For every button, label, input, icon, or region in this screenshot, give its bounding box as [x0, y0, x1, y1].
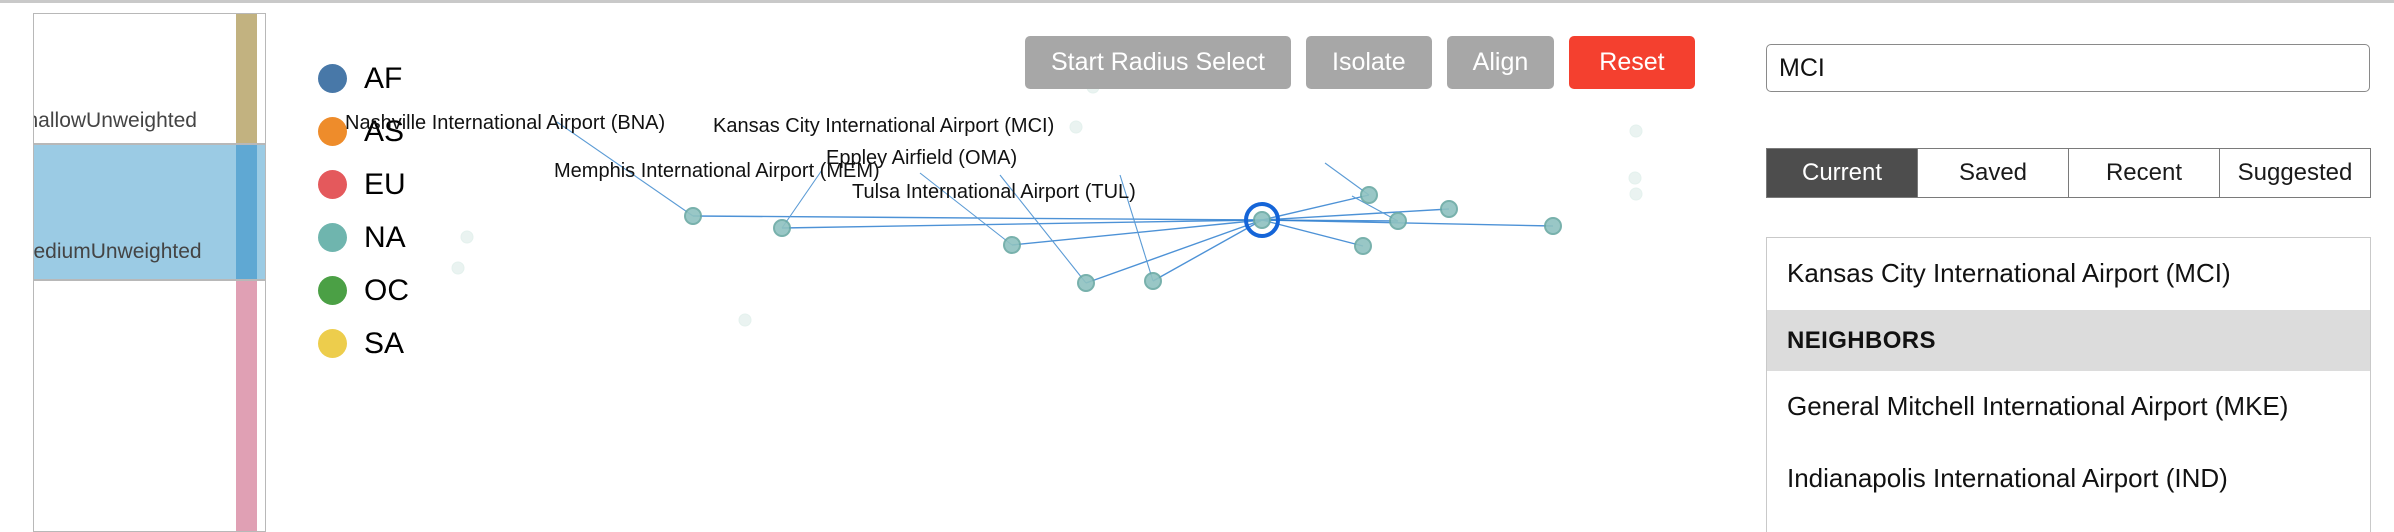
graph-node[interactable]: [1629, 172, 1641, 184]
list-item[interactable]: Kansas City International Airport (MCI): [1767, 238, 2370, 310]
reset-button[interactable]: Reset: [1569, 36, 1694, 89]
continent-legend: AF AS EU NA OC SA: [318, 52, 438, 370]
legend-label-oc: OC: [364, 276, 409, 306]
graph-node[interactable]: [1145, 273, 1161, 289]
legend-label-sa: SA: [364, 329, 404, 359]
graph-node[interactable]: [1004, 237, 1020, 253]
start-radius-select-button[interactable]: Start Radius Select: [1025, 36, 1291, 89]
result-tabs: Current Saved Recent Suggested: [1766, 148, 2371, 198]
legend-item-eu[interactable]: EU: [318, 158, 438, 211]
graph-node-mem[interactable]: [774, 220, 790, 236]
isolate-button[interactable]: Isolate: [1306, 36, 1432, 89]
graph-node[interactable]: [1630, 188, 1642, 200]
legend-swatch-sa: [318, 329, 347, 358]
graph-node-oma[interactable]: [1361, 187, 1377, 203]
graph-node[interactable]: [461, 231, 473, 243]
graph-node[interactable]: [452, 262, 464, 274]
node-label-tul: Tulsa International Airport (TUL): [852, 182, 1136, 202]
legend-label-na: NA: [364, 223, 406, 253]
graph-edge: [1262, 220, 1553, 226]
align-button[interactable]: Align: [1447, 36, 1555, 89]
legend-label-eu: EU: [364, 170, 406, 200]
graph-edge: [1262, 209, 1449, 220]
treemap-bar-pink: [236, 281, 257, 531]
search-sidebar: Current Saved Recent Suggested Kansas Ci…: [1766, 0, 2394, 532]
treemap-row-label: mediumUnweighted: [33, 240, 241, 264]
app-root: shallowUnweighted mediumUnweighted AF AS…: [0, 0, 2394, 532]
tab-recent[interactable]: Recent: [2069, 149, 2220, 197]
result-list: Kansas City International Airport (MCI) …: [1766, 237, 2371, 532]
legend-swatch-oc: [318, 276, 347, 305]
legend-item-na[interactable]: NA: [318, 211, 438, 264]
tab-current[interactable]: Current: [1767, 149, 1918, 197]
graph-node[interactable]: [739, 314, 751, 326]
graph-node[interactable]: [1078, 275, 1094, 291]
treemap-row-third[interactable]: [33, 280, 266, 532]
search-input[interactable]: [1766, 44, 2370, 92]
legend-swatch-eu: [318, 170, 347, 199]
tab-suggested[interactable]: Suggested: [2220, 149, 2370, 197]
treemap-row-label: shallowUnweighted: [33, 109, 241, 133]
legend-item-af[interactable]: AF: [318, 52, 438, 105]
node-label-oma: Eppley Airfield (OMA): [826, 148, 1017, 168]
legend-swatch-as: [318, 117, 347, 146]
legend-swatch-na: [318, 223, 347, 252]
graph-node[interactable]: [1355, 238, 1371, 254]
graph-node-mci[interactable]: [1254, 212, 1270, 228]
graph-node[interactable]: [1441, 201, 1457, 217]
treemap-row-medium-unweighted[interactable]: mediumUnweighted: [33, 144, 266, 280]
graph-toolbar: Start Radius Select Isolate Align Reset: [1025, 36, 1695, 89]
list-section-header-neighbors: NEIGHBORS: [1767, 310, 2370, 371]
graph-node[interactable]: [1070, 121, 1082, 133]
graph-node[interactable]: [1630, 125, 1642, 137]
legend-label-af: AF: [364, 64, 402, 94]
list-item[interactable]: General Mitchell International Airport (…: [1767, 371, 2370, 443]
node-label-mci: Kansas City International Airport (MCI): [713, 116, 1054, 136]
treemap-panel: shallowUnweighted mediumUnweighted: [33, 13, 266, 532]
node-label-bna: Nashville International Airport (BNA): [345, 113, 665, 133]
graph-node-tul[interactable]: [1390, 213, 1406, 229]
graph-node[interactable]: [1545, 218, 1561, 234]
legend-item-oc[interactable]: OC: [318, 264, 438, 317]
graph-node-bna[interactable]: [685, 208, 701, 224]
tab-saved[interactable]: Saved: [1918, 149, 2069, 197]
legend-item-sa[interactable]: SA: [318, 317, 438, 370]
legend-swatch-af: [318, 64, 347, 93]
treemap-row-shallow-unweighted[interactable]: shallowUnweighted: [33, 13, 266, 144]
list-item[interactable]: Indianapolis International Airport (IND): [1767, 443, 2370, 515]
